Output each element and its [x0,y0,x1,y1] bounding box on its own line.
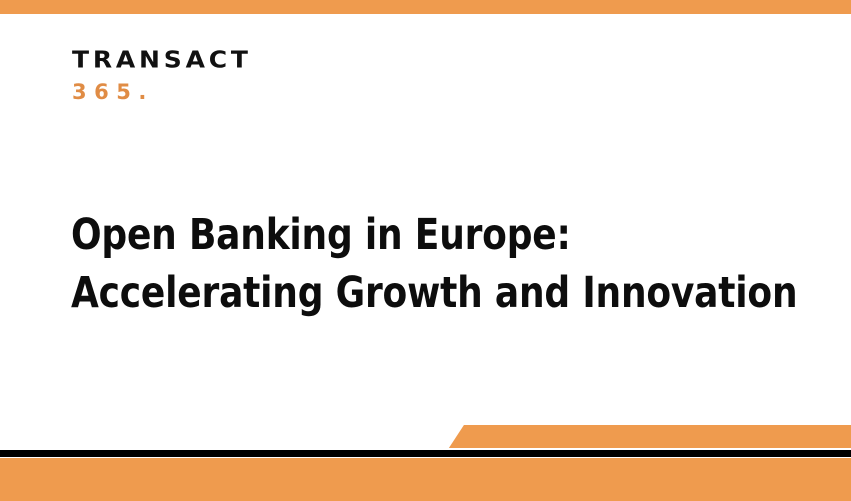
title-slide: TRANSACT 365. Open Banking in Europe: Ac… [0,0,851,501]
top-accent-band [0,0,851,14]
logo-subtext: 365. [72,82,252,103]
bottom-accent-band [0,458,851,501]
logo-wordmark: TRANSACT [72,48,252,71]
slide-title-line-2: Accelerating Growth and Innovation [71,264,759,322]
brand-logo: TRANSACT 365. [72,48,252,103]
angled-accent-shape [433,425,851,448]
black-divider-rule [0,450,851,457]
slide-title-line-1: Open Banking in Europe: [71,206,759,264]
slide-title: Open Banking in Europe: Accelerating Gro… [71,206,811,322]
